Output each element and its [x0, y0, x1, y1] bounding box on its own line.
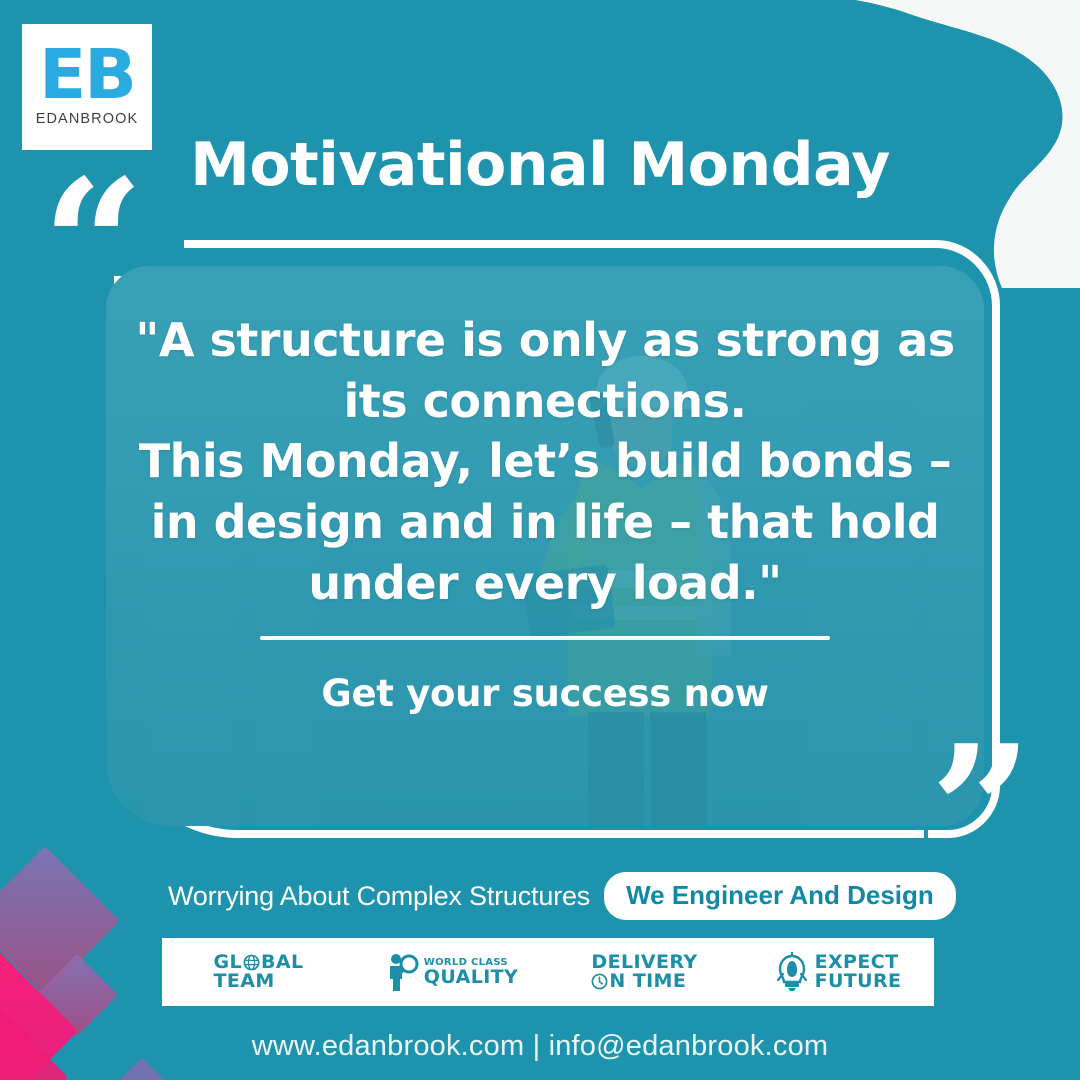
- quote-card-content: "A structure is only as strong as its co…: [106, 266, 984, 826]
- badge-world-class-quality-words: WORLD CLASS QUALITY: [424, 958, 518, 986]
- quote-line-4-text: under every load.": [308, 556, 781, 610]
- badge-strip: GLBAL TEAM WORLD CLASS QUALITY DELIVERY: [162, 938, 934, 1006]
- quote-card: "A structure is only as strong as its co…: [106, 266, 984, 826]
- badge-global-team-words: GLBAL TEAM: [213, 953, 303, 990]
- badge-global-team-line2: TEAM: [213, 972, 303, 991]
- badge-global-team: GLBAL TEAM: [162, 953, 355, 990]
- page-title: Motivational Monday: [0, 130, 1080, 200]
- tagline-pill-badge[interactable]: We Engineer And Design: [604, 872, 956, 920]
- quote-line-2-text: This Monday, let’s build bonds –: [139, 434, 951, 488]
- globe-icon: [243, 954, 260, 971]
- logo-monogram: EB: [39, 47, 135, 104]
- badge-delivery-on-time-line2-text: N TIME: [609, 970, 686, 992]
- badge-world-class-quality: WORLD CLASS QUALITY: [355, 952, 548, 992]
- quote-line-1: "A structure is only as strong as its co…: [135, 310, 955, 614]
- badge-world-class-quality-line2: QUALITY: [424, 968, 518, 987]
- cta-text: Get your success now: [321, 672, 768, 715]
- magnifier-person-icon: [385, 952, 419, 992]
- tagline-plain-text: Worrying About Complex Structures: [168, 881, 590, 912]
- badge-delivery-on-time-words: DELIVERY N TIME: [591, 953, 697, 990]
- poster-canvas: EB EDANBROOK Motivational Monday “: [0, 0, 1080, 1080]
- badge-delivery-on-time-line2: N TIME: [591, 972, 697, 991]
- footer-contact[interactable]: www.edanbrook.com | info@edanbrook.com: [0, 1030, 1080, 1063]
- rocket-gear-icon: [774, 952, 810, 992]
- quote-divider: [260, 636, 830, 640]
- badge-expect-future-words: EXPECT FUTURE: [815, 953, 902, 990]
- clock-icon: [591, 973, 608, 990]
- tagline-row: Worrying About Complex Structures We Eng…: [168, 872, 956, 920]
- quote-line-1-text: "A structure is only as strong as its co…: [135, 313, 954, 428]
- badge-expect-future-line2: FUTURE: [815, 972, 902, 991]
- quote-line-3-text: in design and in life – that hold: [151, 495, 940, 549]
- quote-card-region: "A structure is only as strong as its co…: [88, 240, 1000, 858]
- badge-expect-future: EXPECT FUTURE: [741, 952, 934, 992]
- badge-delivery-on-time: DELIVERY N TIME: [548, 953, 741, 990]
- logo-wordmark: EDANBROOK: [36, 111, 139, 127]
